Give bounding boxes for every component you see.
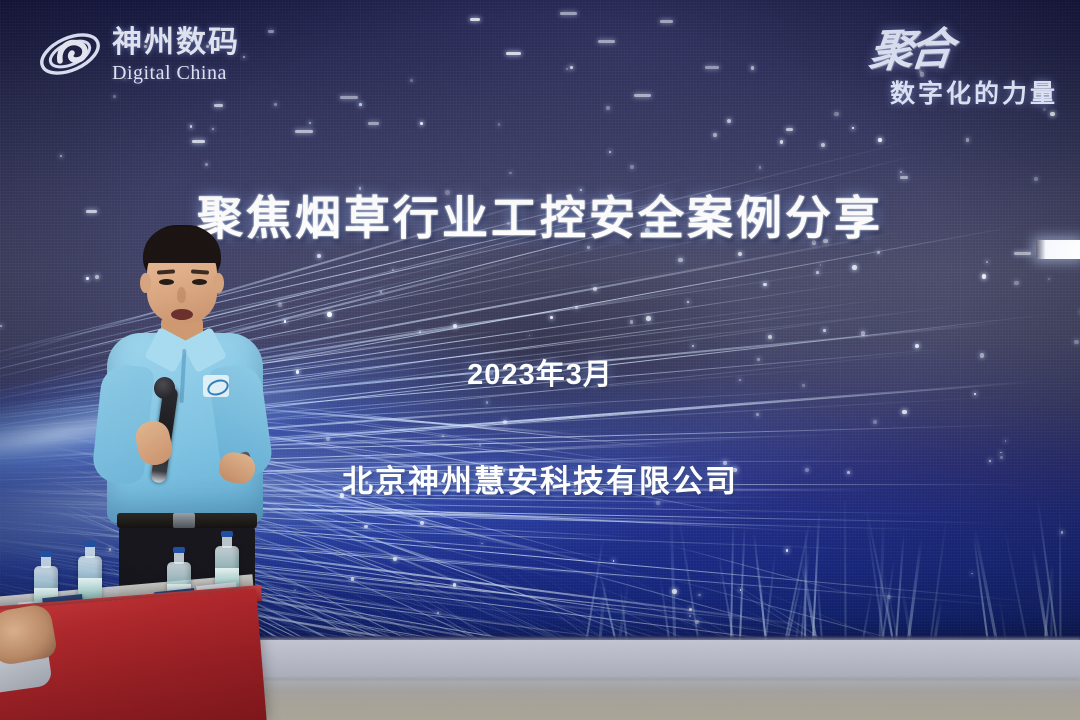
brand-name-cn: 神州数码 [112, 28, 240, 58]
presenter-ear-left [140, 273, 151, 293]
presenter-mouth [171, 309, 193, 320]
conference-stage-photo: 神州数码 Digital China 聚合 数字化的力量 聚焦烟草行业工控安全案… [0, 0, 1080, 720]
digital-china-swirl-icon [36, 23, 104, 85]
event-logo-tagline: 数字化的力量 [788, 74, 1058, 110]
event-logo-calligraphy: 聚合 [866, 13, 953, 80]
presenter-ear-right [213, 273, 224, 293]
presenter-eye-right [192, 279, 207, 285]
presenter-shirt-logo [203, 375, 229, 397]
presenter-belt-buckle [173, 513, 195, 528]
event-logo: 聚合 数字化的力量 [788, 14, 1058, 114]
presenter-eye-left [159, 279, 174, 285]
presenter-hair-front [143, 227, 221, 263]
presenter-nose [177, 287, 186, 303]
digital-china-logo: 神州数码 Digital China [36, 16, 286, 92]
brand-name-en: Digital China [112, 63, 240, 83]
